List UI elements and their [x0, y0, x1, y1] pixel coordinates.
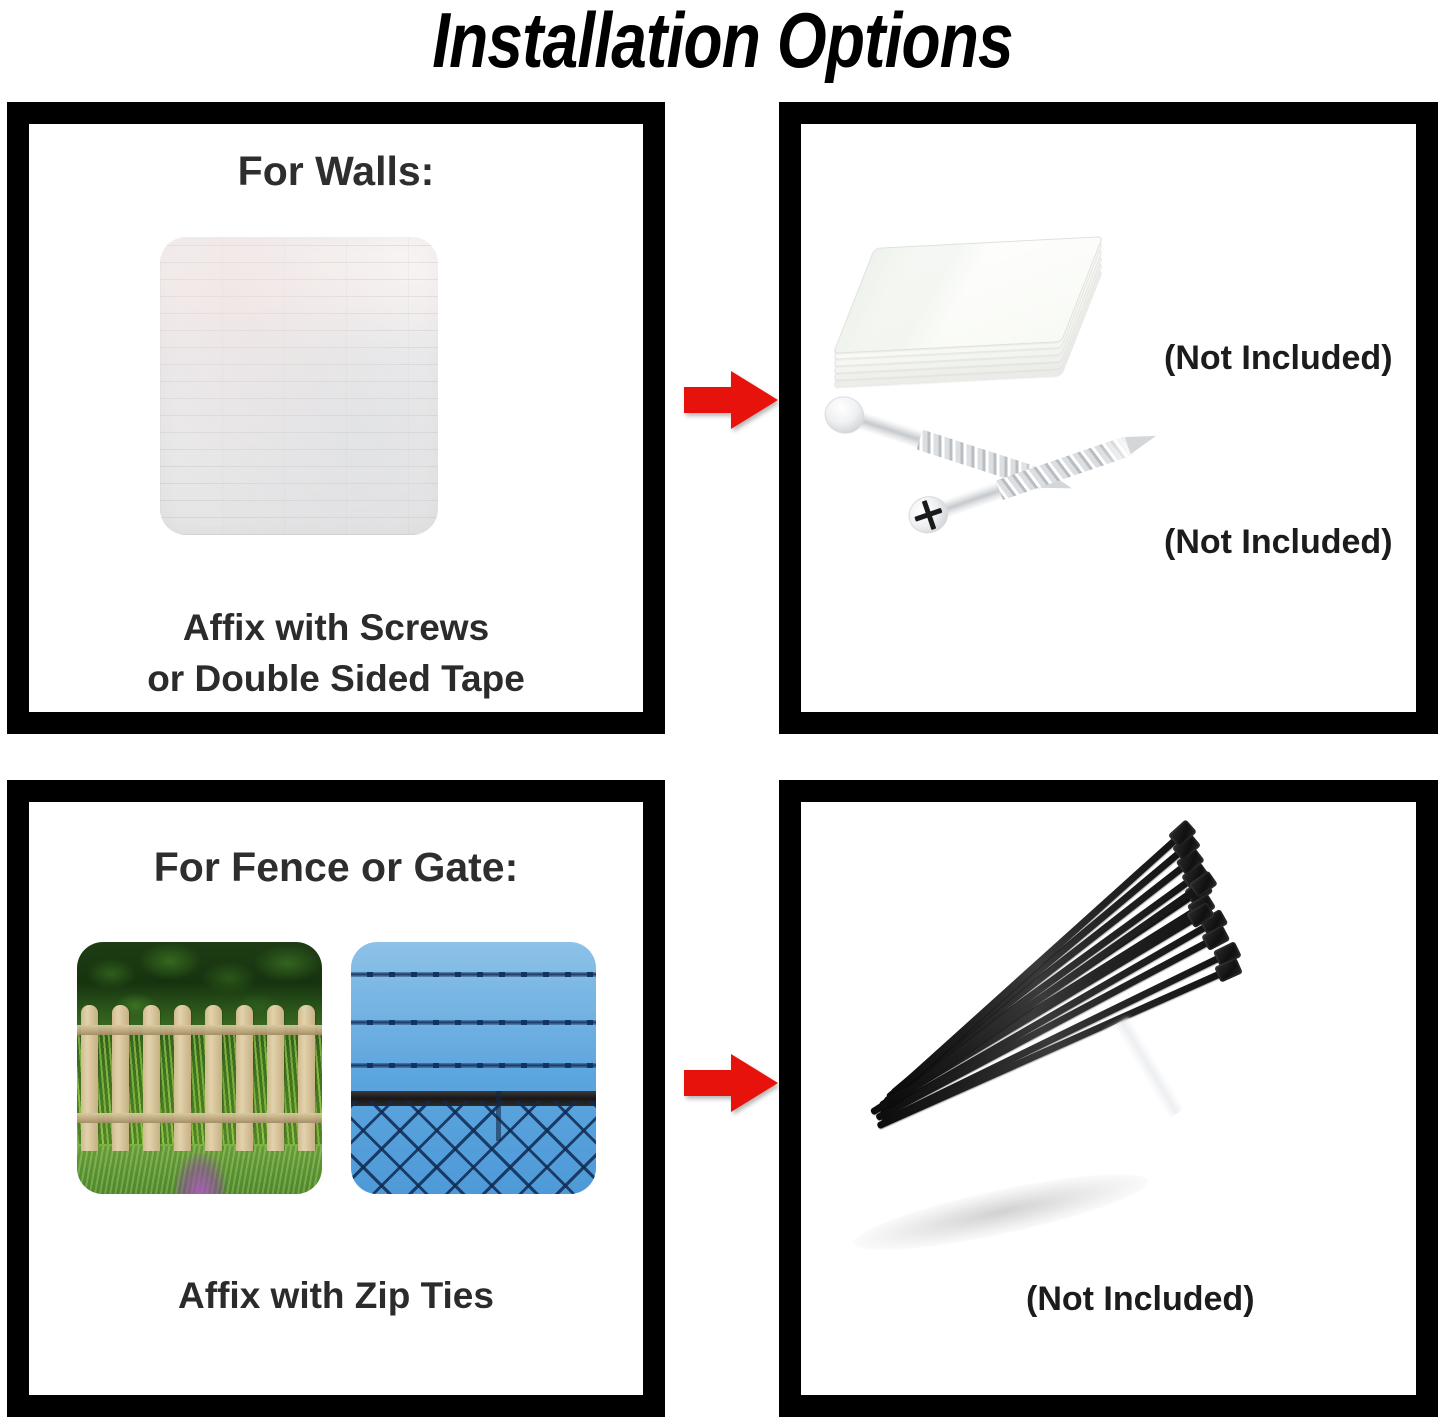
panel-for-walls: For Walls: Affix with Screws or Double S… [7, 102, 665, 734]
walls-heading: For Walls: [29, 148, 643, 195]
installation-options-infographic: Installation Options For Walls: Affix wi… [0, 0, 1445, 1422]
chain-link-barbed-wire-fence-image [351, 942, 596, 1194]
panel-fence-hardware: (Not Included) [779, 780, 1438, 1417]
panel-wall-hardware-content: (Not Included) (Not Included) [801, 124, 1416, 712]
phillips-cross-icon [910, 496, 946, 533]
panel-wall-hardware: (Not Included) (Not Included) [779, 102, 1438, 734]
panel-for-walls-content: For Walls: Affix with Screws or Double S… [29, 124, 643, 712]
walls-caption: Affix with Screws or Double Sided Tape [29, 602, 643, 704]
panel-fence-hardware-content: (Not Included) [801, 802, 1416, 1395]
wooden-picket-fence-image [77, 942, 322, 1194]
zip-tie-bundle-image [829, 894, 1329, 1294]
double-sided-tape-stack-image [856, 242, 1096, 382]
fence-caption: Affix with Zip Ties [29, 1270, 643, 1321]
red-arrow-right-icon [684, 1054, 778, 1112]
zip-tie-binding-band [1103, 1016, 1184, 1124]
panel-for-fence-or-gate: For Fence or Gate: [7, 780, 665, 1417]
screw-head [820, 391, 869, 439]
red-arrow-right-icon [684, 371, 778, 429]
walls-caption-line-1: Affix with Screws [29, 602, 643, 653]
zipties-not-included-label: (Not Included) [1026, 1280, 1255, 1319]
tape-not-included-label: (Not Included) [1164, 339, 1393, 378]
panel-for-fence-content: For Fence or Gate: [29, 802, 643, 1395]
page-title: Installation Options [130, 0, 1315, 82]
white-brick-wall-image [160, 237, 438, 535]
walls-caption-line-2: or Double Sided Tape [29, 653, 643, 704]
fence-heading: For Fence or Gate: [29, 844, 643, 891]
screws-not-included-label: (Not Included) [1164, 523, 1393, 562]
